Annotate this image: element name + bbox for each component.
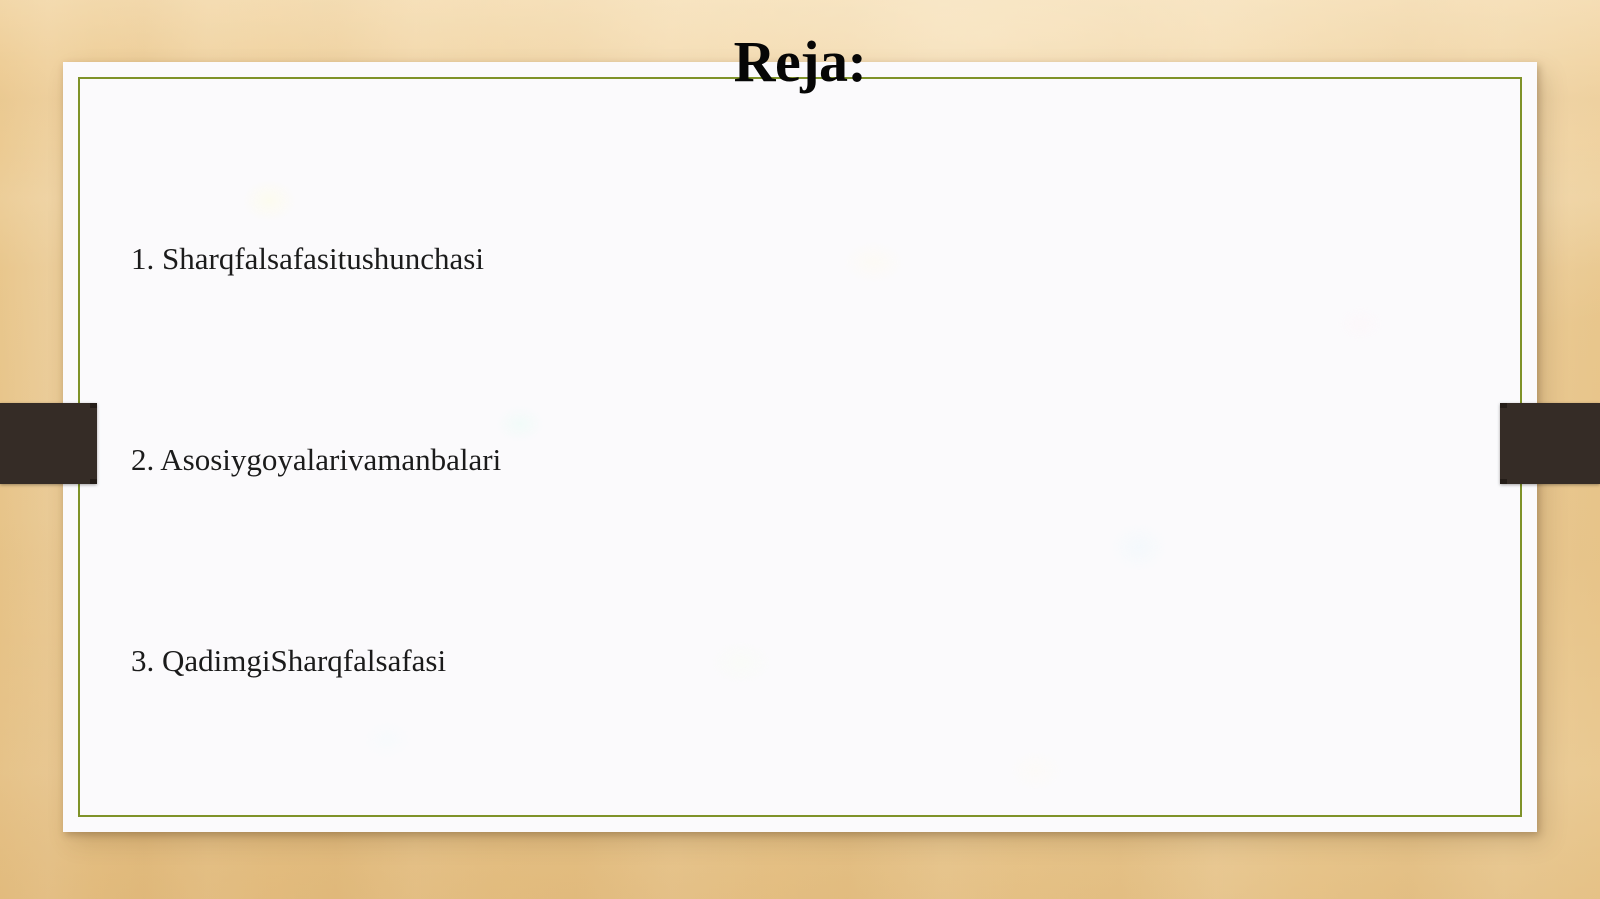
agenda-item-3: 3. QadimgiSharqfalsafasi: [131, 645, 1431, 676]
presentation-slide: Reja: 1. Sharqfalsafasitushunchasi 2. As…: [0, 0, 1600, 899]
decorative-edge-tab-right: [1500, 403, 1600, 484]
agenda-item-2: 2. Asosiygoyalarivamanbalari: [131, 444, 1431, 645]
slide-title: Reja:: [0, 33, 1600, 91]
decorative-edge-tab-left: [0, 403, 97, 484]
agenda-list: 1. Sharqfalsafasitushunchasi 2. Asosiygo…: [131, 243, 1431, 676]
agenda-item-1: 1. Sharqfalsafasitushunchasi: [131, 243, 1431, 444]
